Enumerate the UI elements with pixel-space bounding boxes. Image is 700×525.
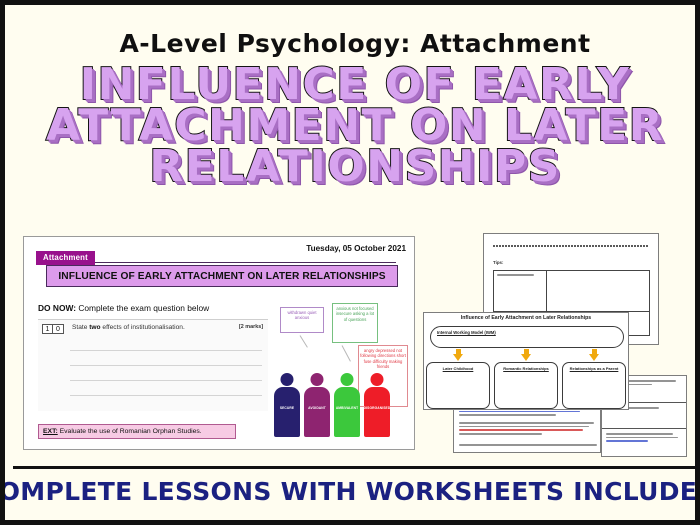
flowchart-box-romantic-relationships: Romantic Relationships	[494, 362, 558, 409]
page-title: INFLUENCE OF EARLY ATTACHMENT ON LATER R…	[5, 65, 700, 188]
attachment-types-figure: withdrawn quiet anxious anxious not focu…	[270, 305, 410, 437]
flowchart-box-later-childhood: Later Childhood	[426, 362, 490, 409]
callout-withdrawn: withdrawn quiet anxious	[280, 307, 324, 333]
topic-tag: Attachment	[36, 251, 95, 265]
silhouette-label: AMBIVALENT	[336, 406, 358, 410]
question-number-digit-1: 1	[42, 324, 53, 334]
extension-task-text: EXT: Evaluate the use of Romanian Orphan…	[43, 428, 202, 435]
silhouette-head	[311, 373, 324, 386]
silhouette-label: AVOIDANT	[308, 406, 326, 410]
silhouette-head	[341, 373, 354, 386]
flowchart-box-label: Romantic Relationships	[495, 366, 557, 371]
worksheet-flowchart: Influence of Early Attachment on Later R…	[423, 312, 629, 410]
question-number: 1 0	[42, 324, 64, 334]
silhouette-body	[364, 387, 390, 437]
down-arrow-icon	[521, 349, 532, 361]
flowchart-box-relationships-as-a-parent: Relationships as a Parent	[562, 362, 626, 409]
slide-date: Tuesday, 05 October 2021	[306, 244, 406, 253]
bottom-banner-text: COMPLETE LESSONS WITH WORKSHEETS INCLUDE…	[0, 477, 700, 506]
callout-leader-line	[342, 345, 351, 361]
do-now-label: DO NOW:	[38, 303, 76, 313]
question-text-b: two	[89, 324, 100, 331]
exam-question-block: 1 0 State two effects of institutionalis…	[38, 319, 268, 411]
question-text-a: State	[72, 324, 89, 331]
tips-label: Tips:	[493, 260, 503, 265]
callout-anxious: anxious not focused insecure asking a lo…	[332, 303, 378, 343]
silhouette-label: SECURE	[280, 406, 294, 410]
callout-leader-line	[300, 335, 308, 347]
question-number-digit-2: 0	[53, 324, 64, 334]
silhouette-avoidant: AVOIDANT	[304, 373, 330, 437]
flowchart-box-label: Relationships as a Parent	[563, 366, 625, 371]
do-now-line: DO NOW: Complete the exam question below	[38, 303, 209, 313]
table-row	[497, 274, 543, 278]
page-title-line-3: RELATIONSHIPS	[5, 147, 700, 188]
document-paragraph	[459, 422, 597, 437]
silhouette-head	[371, 373, 384, 386]
question-marks: [2 marks]	[239, 324, 263, 330]
answer-line	[70, 350, 262, 351]
down-arrow-icon	[453, 349, 464, 361]
answer-line	[70, 380, 262, 381]
page-subtitle: A-Level Psychology: Attachment	[5, 29, 700, 58]
silhouette-disorganised: DISORGANISED	[364, 373, 390, 437]
side-table-cell	[606, 433, 682, 444]
silhouette-body	[274, 387, 300, 437]
silhouette-head	[281, 373, 294, 386]
flowchart-box-label: Later Childhood	[427, 366, 489, 371]
extension-task-box: EXT: Evaluate the use of Romanian Orphan…	[38, 424, 236, 439]
silhouette-label: DISORGANISED	[364, 406, 391, 410]
lesson-slide-preview: Attachment Tuesday, 05 October 2021 INFL…	[23, 236, 415, 450]
document-footer	[459, 444, 597, 448]
extension-detail: Evaluate the use of Romanian Orphan Stud…	[58, 428, 202, 435]
silhouette-body	[304, 387, 330, 437]
slide-title-text: INFLUENCE OF EARLY ATTACHMENT ON LATER R…	[58, 271, 385, 282]
cover-page: A-Level Psychology: Attachment INFLUENCE…	[0, 0, 700, 525]
silhouette-secure: SECURE	[274, 373, 300, 437]
do-now-text: Complete the exam question below	[76, 303, 209, 313]
flowchart-top-box: Internal Working Model (IWM)	[430, 326, 624, 348]
down-arrow-icon	[589, 349, 600, 361]
worksheet-heading-line	[493, 245, 649, 247]
silhouette-ambivalent: AMBIVALENT	[334, 373, 360, 437]
extension-label: EXT:	[43, 428, 58, 435]
bottom-banner: COMPLETE LESSONS WITH WORKSHEETS INCLUDE…	[13, 466, 697, 514]
flowchart-title: Influence of Early Attachment on Later R…	[424, 315, 628, 321]
question-text: State two effects of institutionalisatio…	[72, 324, 185, 331]
question-text-c: effects of institutionalisation.	[101, 324, 185, 331]
slide-title-band: INFLUENCE OF EARLY ATTACHMENT ON LATER R…	[46, 265, 398, 287]
answer-line	[70, 365, 262, 366]
silhouette-body	[334, 387, 360, 437]
silhouette-group: SECURE AVOIDANT AMBIVALENT DISORGANISED	[274, 363, 396, 437]
flowchart-top-box-label: Internal Working Model (IWM)	[437, 330, 496, 335]
answer-line	[70, 395, 262, 396]
